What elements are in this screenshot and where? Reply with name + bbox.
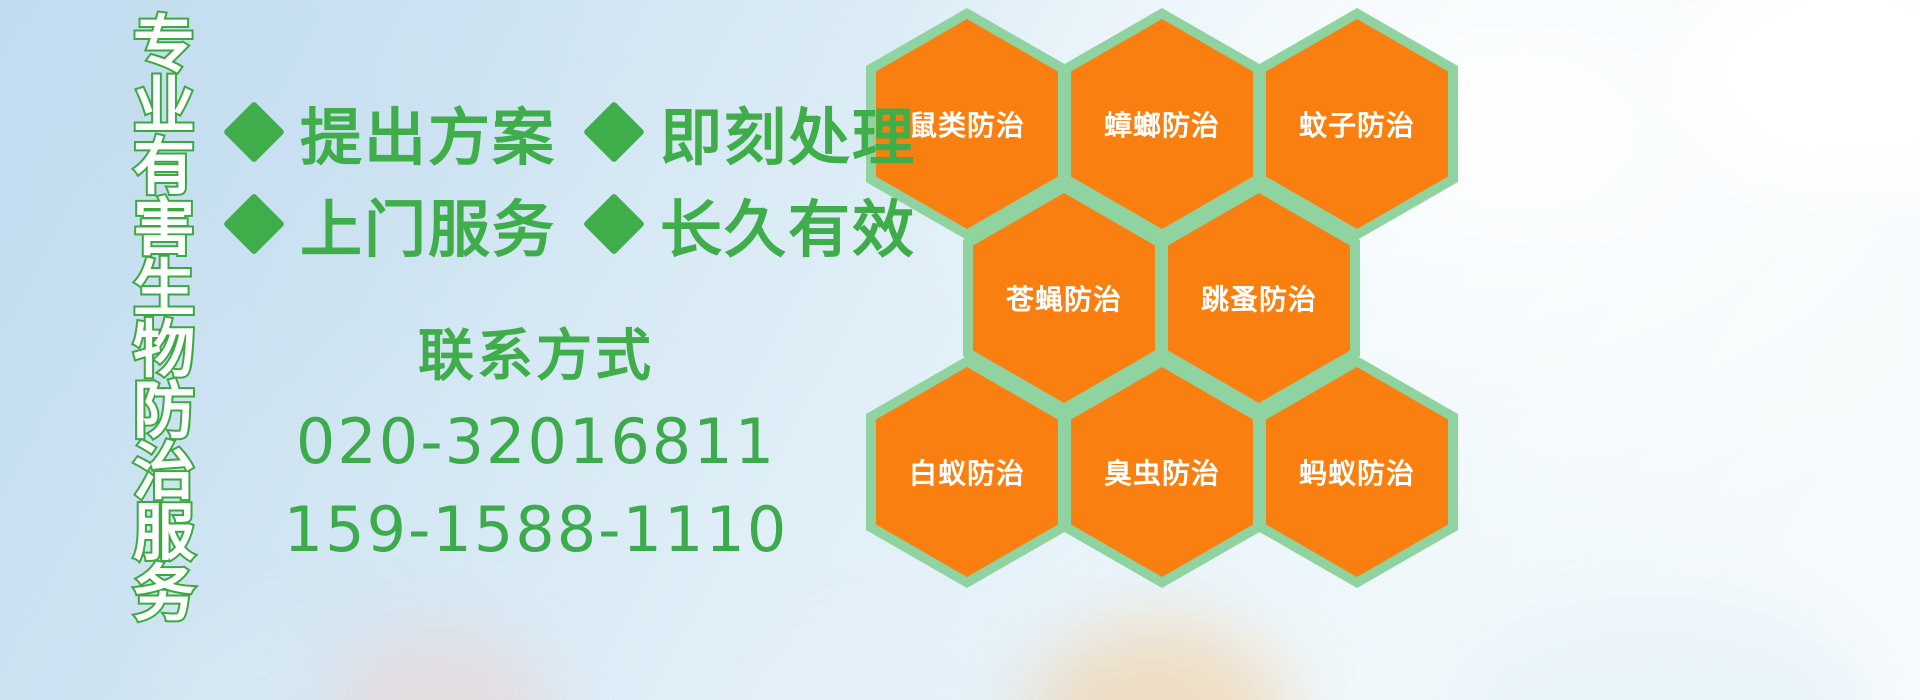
feature-item-immediate-handling: 即刻处理	[592, 87, 916, 177]
contact-phone-mobile[interactable]: 159-1588-1110	[236, 486, 836, 574]
hex-inner: 跳蚤防治	[1168, 193, 1350, 403]
background-blob	[1030, 620, 1290, 700]
feature-item-propose-plan: 提出方案	[232, 87, 556, 177]
hex-label: 蟑螂防治	[1104, 104, 1220, 144]
feature-item-long-lasting-effect: 长久有效	[592, 179, 916, 269]
contact-title: 联系方式	[236, 316, 836, 398]
background-blob	[1680, 0, 1920, 200]
pest-control-banner: 专 业 有 害 生 物 防 治 服 务 提出方案 即刻处理 上门服务	[0, 0, 1920, 700]
background-blob	[760, 620, 1060, 700]
vertical-headline-char: 业	[133, 75, 195, 136]
vertical-headline-char: 生	[133, 258, 195, 319]
vertical-headline-char: 专	[133, 14, 195, 75]
vertical-headline-char: 物	[133, 319, 195, 380]
vertical-headline-char: 防	[133, 380, 195, 441]
hex-label: 蚊子防治	[1299, 104, 1415, 144]
feature-row: 提出方案 即刻处理	[232, 86, 916, 178]
feature-item-door-to-door-service: 上门服务	[232, 179, 556, 269]
vertical-headline-char: 服	[133, 502, 195, 563]
vertical-headline: 专 业 有 害 生 物 防 治 服 务	[112, 14, 216, 562]
vertical-headline-char: 害	[133, 197, 195, 258]
diamond-icon	[583, 101, 645, 163]
hex-inner: 蚂蚁防治	[1266, 367, 1448, 577]
hex-label: 白蚁防治	[909, 452, 1025, 492]
service-hex-grid: 鼠类防治 蟑螂防治 蚊子防治 苍蝇防治 跳蚤防治 白蚁防治	[858, 0, 1478, 560]
hex-label: 臭虫防治	[1104, 452, 1220, 492]
hex-inner: 白蚁防治	[876, 367, 1058, 577]
feature-row: 上门服务 长久有效	[232, 178, 916, 270]
feature-list: 提出方案 即刻处理 上门服务 长久有效	[232, 86, 916, 270]
background-blob	[330, 630, 550, 700]
hex-label: 蚂蚁防治	[1299, 452, 1415, 492]
feature-label: 即刻处理	[660, 87, 916, 177]
hex-inner: 臭虫防治	[1071, 367, 1253, 577]
hex-label: 鼠类防治	[909, 104, 1025, 144]
diamond-icon	[223, 101, 285, 163]
contact-phone-landline[interactable]: 020-32016811	[236, 398, 836, 486]
diamond-icon	[583, 193, 645, 255]
vertical-headline-char: 有	[133, 136, 195, 197]
vertical-headline-char: 务	[133, 563, 195, 624]
diamond-icon	[223, 193, 285, 255]
background-blob	[150, 620, 490, 700]
background-blob	[1450, 600, 1870, 700]
hex-inner: 蟑螂防治	[1071, 19, 1253, 229]
hex-label: 苍蝇防治	[1006, 278, 1122, 318]
hex-inner: 苍蝇防治	[973, 193, 1155, 403]
feature-label: 长久有效	[660, 179, 916, 269]
hex-label: 跳蚤防治	[1201, 278, 1317, 318]
feature-label: 上门服务	[300, 179, 556, 269]
hex-inner: 蚊子防治	[1266, 19, 1448, 229]
feature-label: 提出方案	[300, 87, 556, 177]
contact-block: 联系方式 020-32016811 159-1588-1110	[236, 316, 836, 574]
vertical-headline-char: 治	[133, 441, 195, 502]
